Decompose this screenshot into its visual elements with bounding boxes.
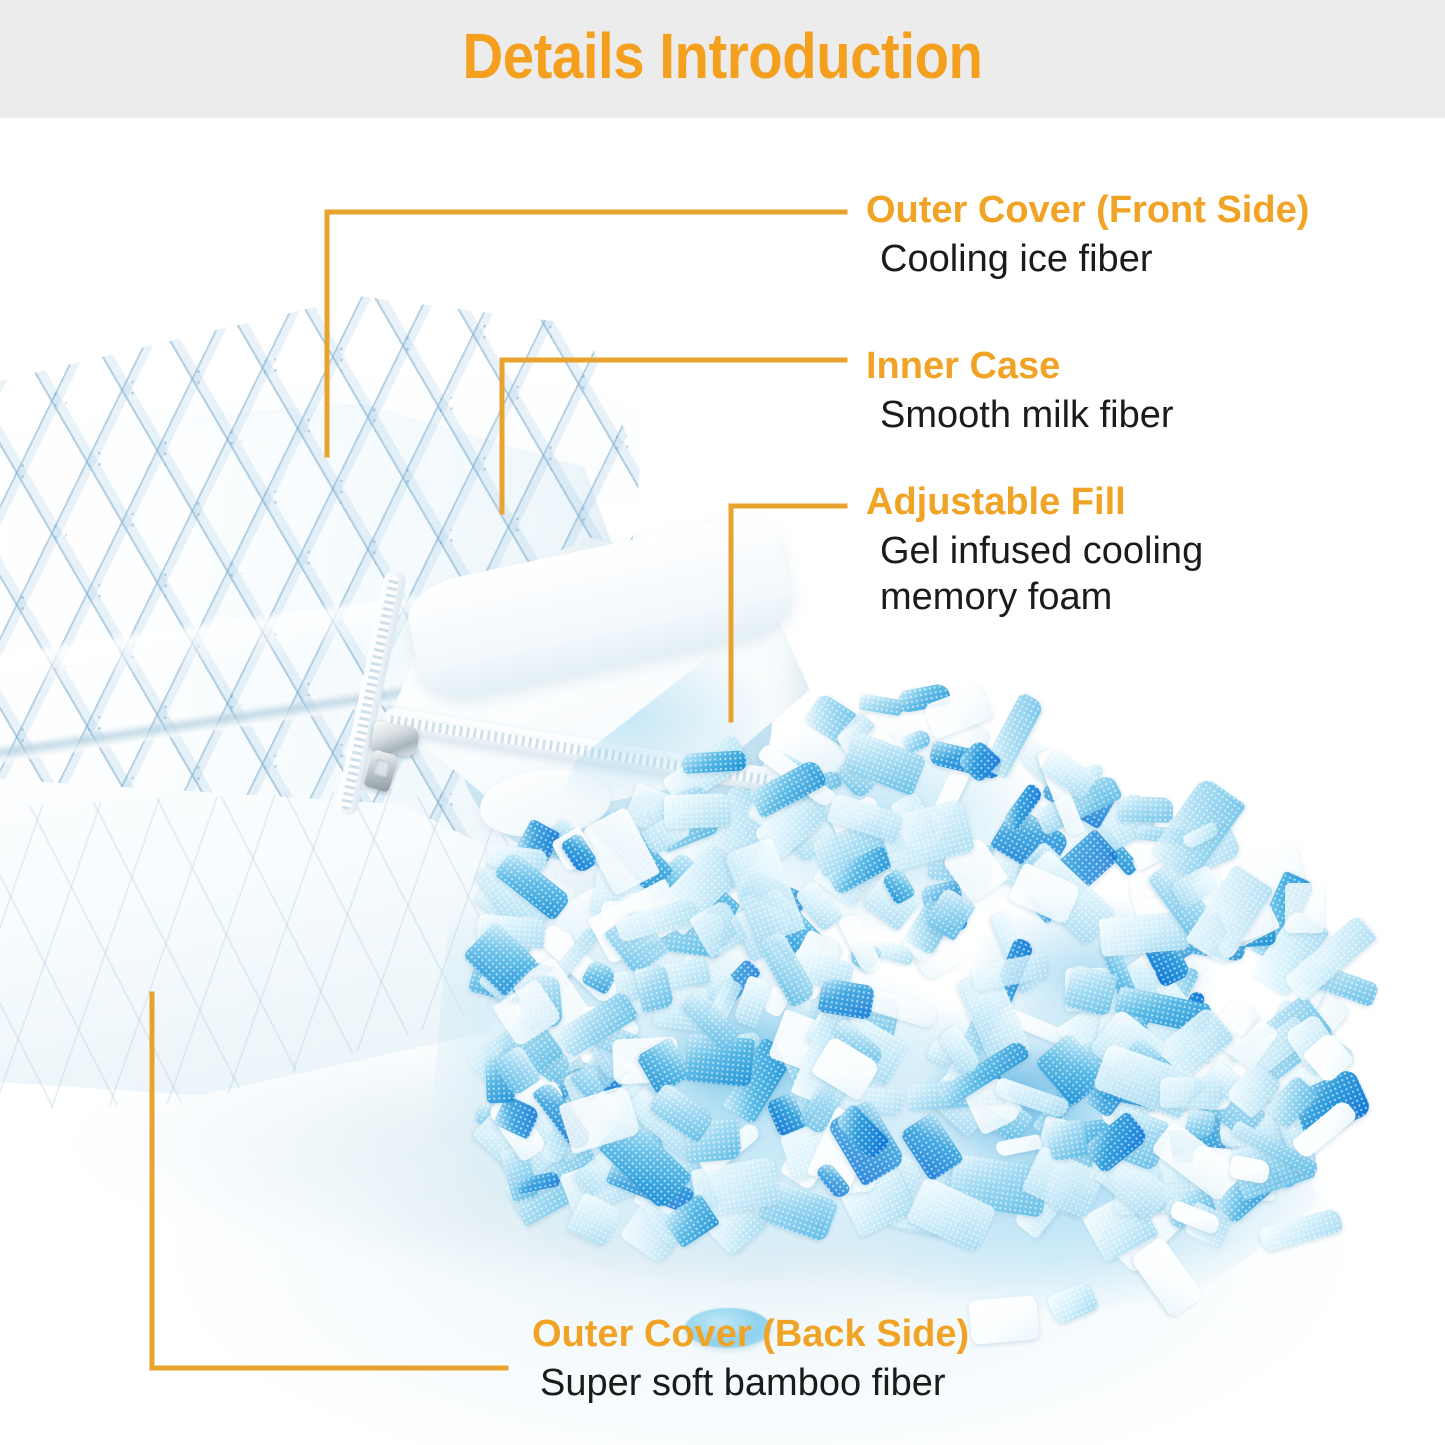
callout-subtitle: Cooling ice fiber	[880, 236, 1309, 282]
callout-outer-cover-front: Outer Cover (Front Side) Cooling ice fib…	[866, 188, 1309, 282]
shredded-foam-pile	[430, 518, 1390, 1348]
callout-title: Inner Case	[866, 344, 1174, 388]
callout-subtitle: Gel infused cooling memory foam	[880, 528, 1280, 620]
header-band: Details Introduction	[0, 0, 1445, 119]
callout-title: Outer Cover (Front Side)	[866, 188, 1309, 232]
callout-title: Adjustable Fill	[866, 480, 1280, 524]
page-title: Details Introduction	[87, 16, 1359, 96]
callout-subtitle: Super soft bamboo fiber	[540, 1360, 969, 1406]
infographic-page: Details Introduction	[0, 0, 1445, 1445]
callout-inner-case: Inner Case Smooth milk fiber	[866, 344, 1174, 438]
callout-adjustable-fill: Adjustable Fill Gel infused cooling memo…	[866, 480, 1280, 620]
foam-chip	[682, 750, 746, 773]
foam-chip	[1118, 797, 1173, 824]
callout-subtitle: Smooth milk fiber	[880, 392, 1174, 438]
product-photo	[0, 118, 1445, 1445]
foam-chip-stray	[968, 1295, 1040, 1345]
callout-title: Outer Cover (Back Side)	[532, 1312, 969, 1356]
foam-chip	[1046, 1119, 1089, 1163]
callout-outer-cover-back: Outer Cover (Back Side) Super soft bambo…	[532, 1312, 969, 1406]
foam-chip	[663, 793, 730, 829]
foam-chip	[1160, 1077, 1220, 1108]
foam-chip	[1285, 883, 1325, 933]
